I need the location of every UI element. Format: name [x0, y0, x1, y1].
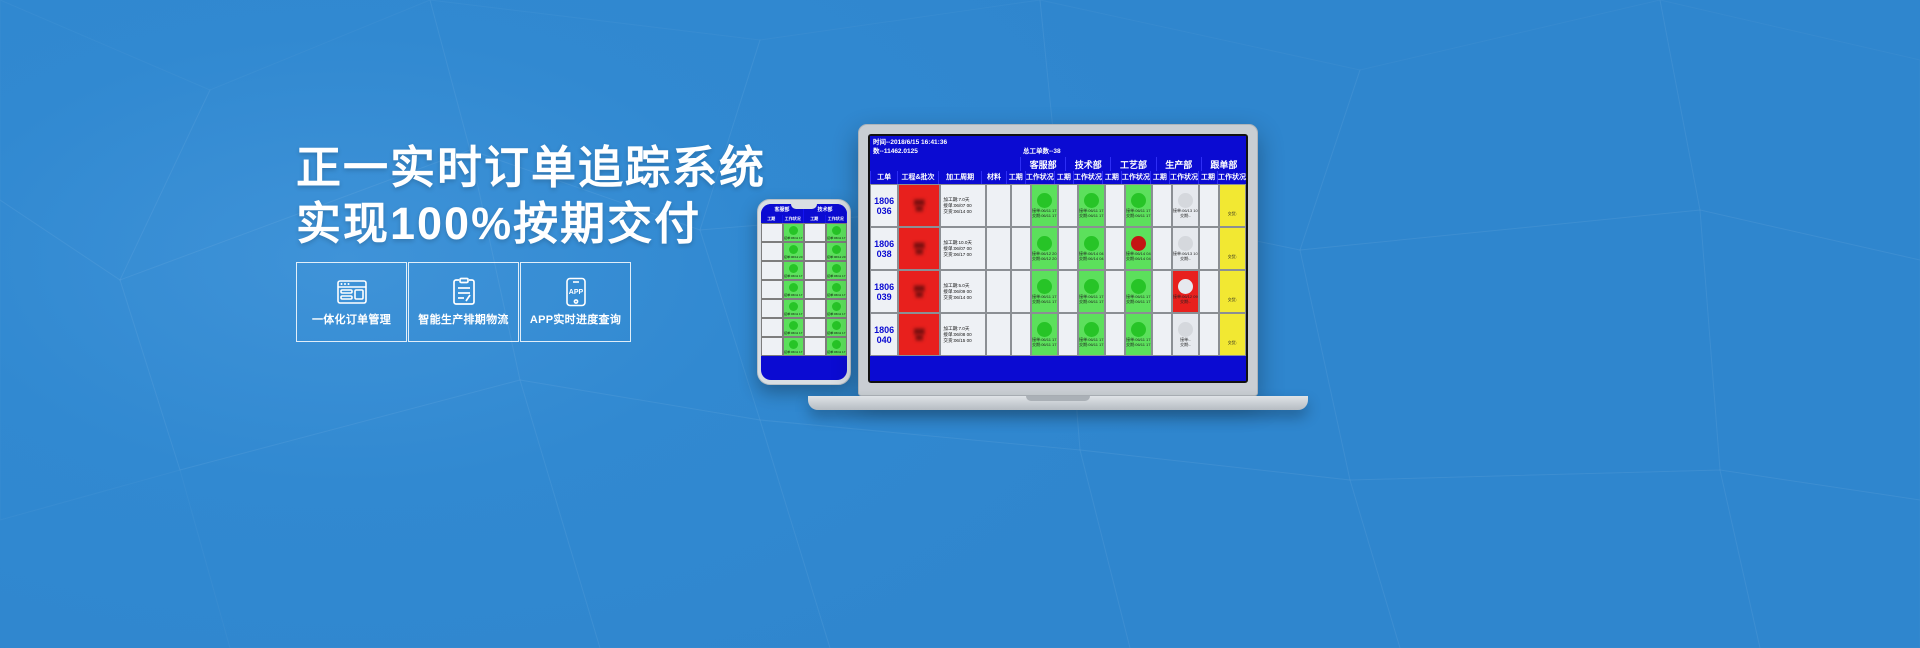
phone-cell-1: 接单:06/11 17: [783, 223, 805, 242]
dept-2-duration-cell: [1105, 270, 1125, 313]
project-batch-cell: █████: [898, 227, 940, 270]
dept-header: 技术部: [1065, 157, 1110, 171]
status-receive-date: 交货:: [1228, 340, 1237, 345]
status-indicator-dot: [1178, 279, 1193, 294]
status-due-date: 交期:-: [1180, 342, 1190, 347]
status-due-date: 交期:-: [1180, 213, 1190, 218]
column-header-1: 工程&批次: [897, 171, 938, 184]
cycle-cell: 加工期:7.0天接单:06/07 00交货:06/14 00: [940, 184, 985, 227]
phone-cell-2: [804, 242, 826, 261]
laptop-base: [808, 396, 1308, 410]
dept-2-duration-cell: [1105, 227, 1125, 270]
header-spacer: [870, 157, 1020, 171]
status-indicator-dot: [1037, 322, 1052, 337]
phone-list-item[interactable]: 接单:06/11 17接单:06/11 17: [761, 280, 847, 299]
laptop-screen: 时间--2018/6/15 16:41:36 数--11462.0125 总工单…: [870, 136, 1246, 381]
dashboard-header: 时间--2018/6/15 16:41:36 数--11462.0125 总工单…: [870, 136, 1246, 157]
phone-status-date: 接单:06/11 17: [784, 274, 802, 278]
cycle-cell: 加工期:10.0天接单:06/07 00交货:06/17 00: [940, 227, 985, 270]
material-cell: [986, 184, 1011, 227]
phone-status-dot: [789, 283, 798, 292]
dept-4-status-cell[interactable]: 交货:: [1219, 227, 1246, 270]
status-indicator-dot: [1131, 279, 1146, 294]
status-due-date: 交期:06/11 17: [1079, 342, 1103, 347]
phone-status-dot: [789, 264, 798, 273]
dept-3-column-工期: 工期: [1150, 171, 1169, 184]
table-row[interactable]: 1806036█████加工期:7.0天接单:06/07 00交货:06/14 …: [870, 184, 1246, 227]
laptop-base-notch: [1026, 396, 1090, 401]
status-receive-date: 交货:: [1228, 254, 1237, 259]
phone-status-date: 接单:06/12 20: [827, 255, 846, 259]
dept-0-duration-cell: [1011, 313, 1031, 356]
dashboard-table-body: 1806036█████加工期:7.0天接单:06/07 00交货:06/14 …: [870, 184, 1246, 356]
dept-2-status-cell[interactable]: 接单:06/14 04交期:06/14 04: [1125, 227, 1152, 270]
laptop-lid: 时间--2018/6/15 16:41:36 数--11462.0125 总工单…: [858, 124, 1258, 396]
dept-0-duration-cell: [1011, 270, 1031, 313]
dept-header: 客服部: [1020, 157, 1065, 171]
laptop-mockup: 时间--2018/6/15 16:41:36 数--11462.0125 总工单…: [858, 124, 1308, 410]
dept-0-status-cell[interactable]: 接单:06/11 17交期:06/11 17: [1031, 270, 1058, 313]
phone-status-date: 接单:06/11 17: [784, 293, 802, 297]
column-header-2: 加工周期: [938, 171, 981, 184]
dept-2-duration-cell: [1105, 313, 1125, 356]
phone-cell-3: 接单:06/11 17: [826, 318, 848, 337]
feature-list: 一体化订单管理 智能生产排期物流 APP APP实时进度查询: [296, 262, 632, 342]
order-number-cell: 1806036: [870, 184, 898, 227]
phone-status-date: 接单:06/11 17: [827, 236, 845, 240]
phone-table-body: 接单:06/11 17接单:06/11 17接单:06/12 20接单:06/1…: [761, 223, 847, 356]
status-due-date: 交期:06/11 17: [1079, 213, 1103, 218]
phone-list-item[interactable]: 接单:06/11 17接单:06/11 17: [761, 299, 847, 318]
project-batch-cell: █████: [898, 184, 940, 227]
status-indicator-dot: [1037, 279, 1052, 294]
dept-1-duration-cell: [1058, 184, 1078, 227]
dept-4-duration-cell: [1199, 313, 1219, 356]
phone-list-item[interactable]: 接单:06/11 17接单:06/11 17: [761, 223, 847, 242]
phone-cell-3: 接单:06/11 17: [826, 337, 848, 356]
phone-status-date: 接单:06/11 17: [827, 274, 845, 278]
dept-3-duration-cell: [1152, 313, 1172, 356]
phone-col: 工作状况: [826, 215, 848, 223]
feature-label: APP实时进度查询: [530, 311, 621, 327]
phone-status-date: 接单:06/11 17: [827, 350, 845, 354]
status-indicator-dot: [1037, 236, 1052, 251]
dept-1-duration-cell: [1058, 270, 1078, 313]
status-indicator-dot: [1225, 196, 1240, 211]
dept-3-duration-cell: [1152, 184, 1172, 227]
phone-cell-1: 接单:06/11 17: [783, 318, 805, 337]
status-indicator-dot: [1084, 279, 1099, 294]
status-indicator-dot: [1084, 322, 1099, 337]
phone-cell-2: [804, 223, 826, 242]
status-due-date: 交期:06/11 17: [1032, 299, 1056, 304]
dept-4-column-工作状况: 工作状况: [1217, 171, 1246, 184]
dept-0-status-cell[interactable]: 接单:06/11 17交期:06/11 17: [1031, 313, 1058, 356]
feature-card-production-scheduling[interactable]: 智能生产排期物流: [408, 262, 519, 342]
dept-2-column-工作状况: 工作状况: [1121, 171, 1150, 184]
phone-status-dot: [832, 226, 841, 235]
phone-list-item[interactable]: 接单:06/11 17接单:06/11 17: [761, 261, 847, 280]
status-indicator-dot: [1178, 236, 1193, 251]
status-indicator-dot: [1037, 193, 1052, 208]
dept-0-column-工作状况: 工作状况: [1025, 171, 1054, 184]
status-indicator-dot: [1225, 282, 1240, 297]
phone-list-item[interactable]: 接单:06/12 20接单:06/12 20: [761, 242, 847, 261]
phone-status-date: 接单:06/11 17: [827, 293, 845, 297]
phone-status-dot: [789, 321, 798, 330]
order-number-cell: 1806038: [870, 227, 898, 270]
feature-card-app-progress[interactable]: APP APP实时进度查询: [520, 262, 631, 342]
cycle-cell: 加工期:5.0天接单:06/09 00交货:06/14 00: [940, 270, 985, 313]
dept-2-column-工期: 工期: [1102, 171, 1121, 184]
phone-cell-3: 接单:06/11 17: [826, 280, 848, 299]
status-indicator-dot: [1084, 193, 1099, 208]
dept-0-status-cell[interactable]: 接单:06/12 20交期:06/12 20: [1031, 227, 1058, 270]
dept-1-status-cell[interactable]: 接单:06/11 17交期:06/11 17: [1078, 184, 1105, 227]
status-indicator-dot: [1225, 325, 1240, 340]
phone-status-date: 接单:06/11 17: [827, 331, 845, 335]
phone-status-date: 接单:06/11 17: [827, 312, 845, 316]
status-due-date: 交期:06/14 04: [1079, 256, 1104, 261]
status-indicator-dot: [1131, 236, 1146, 251]
dept-1-status-cell[interactable]: 接单:06/11 17交期:06/11 17: [1078, 270, 1105, 313]
feature-label: 智能生产排期物流: [418, 311, 508, 327]
phone-cell-0: [761, 261, 783, 280]
phone-status-dot: [832, 302, 841, 311]
dept-1-duration-cell: [1058, 313, 1078, 356]
status-due-date: 交期:06/11 17: [1126, 342, 1150, 347]
feature-label: 一体化订单管理: [312, 311, 391, 327]
phone-cell-1: 接单:06/11 17: [783, 337, 805, 356]
phone-status-dot: [832, 264, 841, 273]
phone-cell-0: [761, 337, 783, 356]
phone-status-date: 接单:06/11 17: [784, 236, 802, 240]
phone-status-dot: [832, 245, 841, 254]
status-due-date: 交期:06/14 04: [1126, 256, 1151, 261]
status-indicator-dot: [1084, 236, 1099, 251]
phone-cell-1: 接单:06/11 17: [783, 261, 805, 280]
status-indicator-dot: [1178, 322, 1193, 337]
phone-status-date: 接单:06/12 20: [784, 255, 803, 259]
dept-3-column-工作状况: 工作状况: [1169, 171, 1198, 184]
dept-2-status-cell[interactable]: 接单:06/11 17交期:06/11 17: [1125, 270, 1152, 313]
dept-0-duration-cell: [1011, 184, 1031, 227]
dept-4-status-cell[interactable]: 交货:: [1219, 313, 1246, 356]
dashboard-count: 数--11462.0125: [873, 147, 1023, 156]
order-number-cell: 1806039: [870, 270, 898, 313]
mobile-phone-icon: APP: [559, 277, 593, 307]
phone-status-dot: [832, 283, 841, 292]
phone-cell-0: [761, 299, 783, 318]
phone-list-item[interactable]: 接单:06/11 17接单:06/11 17: [761, 337, 847, 356]
dept-3-duration-cell: [1152, 270, 1172, 313]
phone-col: 工期: [761, 215, 783, 223]
phone-cell-0: [761, 242, 783, 261]
phone-status-dot: [832, 340, 841, 349]
dept-2-status-cell[interactable]: 接单:06/11 17交期:06/11 17: [1125, 184, 1152, 227]
dashboard-column-header: 工单工程&批次加工周期材料工期工作状况工期工作状况工期工作状况工期工作状况工期工…: [870, 171, 1246, 184]
dept-4-status-cell[interactable]: 交货:: [1219, 270, 1246, 313]
phone-status-date: 接单:06/11 17: [784, 312, 802, 316]
status-indicator-dot: [1225, 239, 1240, 254]
status-indicator-dot: [1178, 193, 1193, 208]
dept-4-duration-cell: [1199, 270, 1219, 313]
order-number-cell: 1806040: [870, 313, 898, 356]
phone-status-date: 接单:06/11 17: [784, 331, 802, 335]
phone-cell-2: [804, 280, 826, 299]
phone-cell-2: [804, 318, 826, 337]
table-row[interactable]: 1806038█████加工期:10.0天接单:06/07 00交货:06/17…: [870, 227, 1246, 270]
status-due-date: 交期:-: [1180, 256, 1190, 261]
dept-3-duration-cell: [1152, 227, 1172, 270]
dept-2-duration-cell: [1105, 184, 1125, 227]
status-due-date: 交期:06/11 17: [1032, 342, 1056, 347]
dept-0-duration-cell: [1011, 227, 1031, 270]
status-receive-date: 交货:: [1228, 211, 1237, 216]
dept-4-duration-cell: [1199, 184, 1219, 227]
status-due-date: 交期:06/11 17: [1126, 213, 1150, 218]
phone-column-header: 工期 工作状况 工期 工作状况: [761, 215, 847, 223]
phone-cell-3: 接单:06/11 17: [826, 299, 848, 318]
dashboard-department-header: 客服部 技术部 工艺部 生产部 跟单部: [870, 157, 1246, 171]
dept-3-status-cell[interactable]: 接单:06/13 10交期:-: [1172, 227, 1199, 270]
status-indicator-dot: [1131, 193, 1146, 208]
dept-2-status-cell[interactable]: 接单:06/11 17交期:06/11 17: [1125, 313, 1152, 356]
dept-3-status-cell[interactable]: 接单:06/12 09交期:-: [1172, 270, 1199, 313]
column-header-3: 材料: [981, 171, 1005, 184]
phone-cell-3: 接单:06/11 17: [826, 261, 848, 280]
dept-header: 工艺部: [1110, 157, 1155, 171]
phone-cell-1: 接单:06/12 20: [783, 242, 805, 261]
status-indicator-dot: [1131, 322, 1146, 337]
phone-cell-0: [761, 318, 783, 337]
dept-0-column-工期: 工期: [1006, 171, 1025, 184]
status-receive-date: 交货:: [1228, 297, 1237, 302]
column-header-0: 工单: [870, 171, 897, 184]
phone-status-dot: [789, 340, 798, 349]
phone-cell-2: [804, 337, 826, 356]
phone-cell-3: 接单:06/12 20: [826, 242, 848, 261]
table-row[interactable]: 1806040█████加工期:7.0天接单:06/08 00交货:06/15 …: [870, 313, 1246, 356]
material-cell: [986, 227, 1011, 270]
phone-status-dot: [789, 245, 798, 254]
project-batch-cell: █████: [898, 313, 940, 356]
project-batch-cell: █████: [898, 270, 940, 313]
cycle-cell: 加工期:7.0天接单:06/08 00交货:06/15 00: [940, 313, 985, 356]
phone-status-dot: [832, 321, 841, 330]
status-due-date: 交期:06/11 17: [1032, 213, 1056, 218]
phone-cell-3: 接单:06/11 17: [826, 223, 848, 242]
phone-list-item[interactable]: 接单:06/11 17接单:06/11 17: [761, 318, 847, 337]
material-cell: [986, 270, 1011, 313]
headline-line-1: 正一实时订单追踪系统: [296, 140, 856, 196]
dashboard-total: 总工单数--38: [1023, 147, 1243, 156]
status-due-date: 交期:06/11 17: [1079, 299, 1103, 304]
status-due-date: 交期:06/12 20: [1032, 256, 1057, 261]
dept-1-status-cell[interactable]: 接单:06/11 17交期:06/11 17: [1078, 313, 1105, 356]
phone-cell-2: [804, 299, 826, 318]
feature-card-order-management[interactable]: 一体化订单管理: [296, 262, 407, 342]
phone-screen: 客服部 技术部 工期 工作状况 工期 工作状况 接单:06/11 17接单:06…: [761, 204, 847, 380]
phone-col: 工作状况: [783, 215, 805, 223]
dept-header: 跟单部: [1201, 157, 1246, 171]
phone-status-dot: [789, 226, 798, 235]
phone-cell-1: 接单:06/11 17: [783, 280, 805, 299]
phone-status-dot: [789, 302, 798, 311]
dashboard-time: 时间--2018/6/15 16:41:36: [873, 138, 1023, 147]
phone-cell-1: 接单:06/11 17: [783, 299, 805, 318]
dept-1-column-工期: 工期: [1054, 171, 1073, 184]
app-icon-text: APP: [568, 289, 583, 296]
phone-cell-0: [761, 280, 783, 299]
status-due-date: 交期:06/11 17: [1126, 299, 1150, 304]
dept-1-duration-cell: [1058, 227, 1078, 270]
phone-status-date: 接单:06/11 17: [784, 350, 802, 354]
phone-cell-2: [804, 261, 826, 280]
dept-3-status-cell[interactable]: 接单:-交期:-: [1172, 313, 1199, 356]
material-cell: [986, 313, 1011, 356]
dept-0-status-cell[interactable]: 接单:06/11 17交期:06/11 17: [1031, 184, 1058, 227]
table-row[interactable]: 1806039█████加工期:5.0天接单:06/09 00交货:06/14 …: [870, 270, 1246, 313]
dept-4-duration-cell: [1199, 227, 1219, 270]
phone-cell-0: [761, 223, 783, 242]
browser-window-icon: [335, 277, 369, 307]
dept-3-status-cell[interactable]: 接单:06/13 10交期:-: [1172, 184, 1199, 227]
clipboard-checklist-icon: [447, 277, 481, 307]
smartphone-mockup: 客服部 技术部 工期 工作状况 工期 工作状况 接单:06/11 17接单:06…: [757, 199, 851, 385]
dept-header: 生产部: [1156, 157, 1201, 171]
status-due-date: 交期:-: [1180, 299, 1190, 304]
dept-1-column-工作状况: 工作状况: [1073, 171, 1102, 184]
dept-4-status-cell[interactable]: 交货:: [1219, 184, 1246, 227]
phone-col: 工期: [804, 215, 826, 223]
dept-4-column-工期: 工期: [1198, 171, 1217, 184]
phone-notch: [791, 204, 817, 209]
dept-1-status-cell[interactable]: 接单:06/14 04交期:06/14 04: [1078, 227, 1105, 270]
laptop-bezel: 时间--2018/6/15 16:41:36 数--11462.0125 总工单…: [868, 134, 1248, 383]
